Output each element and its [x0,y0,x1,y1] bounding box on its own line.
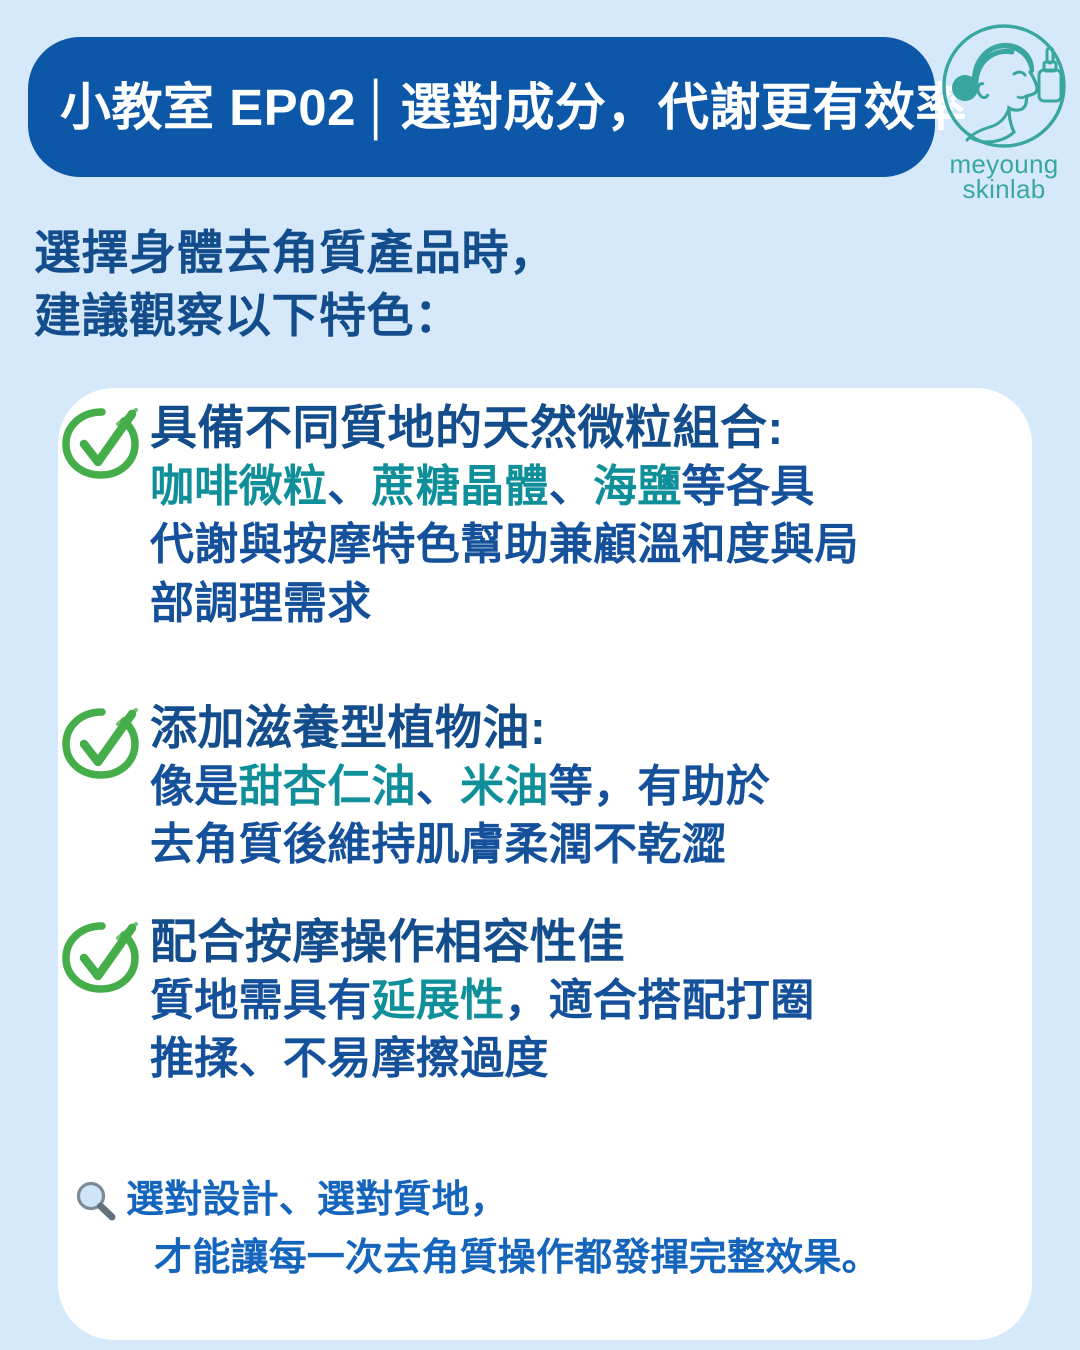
plain-text: 等，有助於 [549,762,771,811]
lead-line-2: 建議觀察以下特色： [34,285,794,348]
feature-heading: 配合按摩操作相容性佳 [150,916,1020,968]
footer-note-text: 選對設計、選對質地， 才能讓每一次去角質操作都發揮完整效果。 [126,1172,880,1288]
green-check-circle-icon [56,404,148,482]
title-suffix: 選對成分，代謝更有效率 [400,79,967,136]
feature-body: 具備不同質地的天然微粒組合: 咖啡微粒、蔗糖晶體、海鹽等各具代謝與按摩特色幫助兼… [150,402,1032,633]
magnifier-icon [72,1178,120,1226]
highlighted-term: 甜杏仁油 [239,762,416,811]
plain-text: 像是 [150,762,239,811]
footer-line-2: 才能讓每一次去角質操作都發揮完整效果。 [126,1230,880,1288]
feature-heading: 具備不同質地的天然微粒組合: [150,402,1020,454]
feature-detail: 咖啡微粒、蔗糖晶體、海鹽等各具代謝與按摩特色幫助兼顧溫和度與局部調理需求 [150,458,1020,634]
title-banner: 小教室 EP02│選對成分，代謝更有效率 [28,37,935,177]
feature-detail-line: 代謝與按摩特色幫助兼顧溫和度與局 [150,516,1020,575]
plain-text: 部調理需求 [150,579,372,628]
plain-text: 代謝與按摩特色幫助兼顧溫和度與局 [150,520,859,569]
highlighted-term: 海鹽 [593,462,682,511]
feature-item: 添加滋養型植物油: 像是甜杏仁油、米油等，有助於去角質後維持肌膚柔潤不乾澀 [58,702,1032,875]
lead-line-1: 選擇身體去角質產品時， [34,222,794,285]
plain-text: 、 [327,462,371,511]
feature-detail-line: 咖啡微粒、蔗糖晶體、海鹽等各具 [150,458,1020,517]
plain-text: 等各具 [682,462,815,511]
feature-detail-line: 質地需具有延展性，適合搭配打圈 [150,972,1020,1031]
plain-text: 去角質後維持肌膚柔潤不乾澀 [150,820,726,869]
feature-detail: 像是甜杏仁油、米油等，有助於去角質後維持肌膚柔潤不乾澀 [150,758,1020,875]
highlighted-term: 蔗糖晶體 [372,462,549,511]
plain-text: 推揉、不易摩擦過度 [150,1034,549,1083]
feature-detail: 質地需具有延展性，適合搭配打圈推揉、不易摩擦過度 [150,972,1020,1089]
feature-heading: 添加滋養型植物油: [150,702,1020,754]
poster-canvas: 小教室 EP02│選對成分，代謝更有效率 [0,0,1080,1350]
feature-item: 配合按摩操作相容性佳 質地需具有延展性，適合搭配打圈推揉、不易摩擦過度 [58,916,1032,1089]
footer-note: 選對設計、選對質地， 才能讓每一次去角質操作都發揮完整效果。 [72,1172,1012,1288]
brand-wordmark: meyoung skinlab [949,152,1058,201]
wordmark-line-2: skinlab [949,177,1058,202]
plain-text: 質地需具有 [150,976,372,1025]
green-check-circle-icon [56,704,148,782]
title-prefix: 小教室 EP02 [60,79,356,136]
highlighted-term: 米油 [460,762,549,811]
feature-item: 具備不同質地的天然微粒組合: 咖啡微粒、蔗糖晶體、海鹽等各具代謝與按摩特色幫助兼… [58,402,1032,633]
feature-body: 配合按摩操作相容性佳 質地需具有延展性，適合搭配打圈推揉、不易摩擦過度 [150,916,1032,1089]
highlighted-term: 咖啡微粒 [150,462,327,511]
feature-detail-line: 像是甜杏仁油、米油等，有助於 [150,758,1020,817]
lead-paragraph: 選擇身體去角質產品時， 建議觀察以下特色： [34,222,794,347]
page-title: 小教室 EP02│選對成分，代謝更有效率 [60,82,967,133]
plain-text: 、 [549,462,593,511]
feature-detail-line: 部調理需求 [150,575,1020,634]
highlighted-term: 延展性 [372,976,505,1025]
plain-text: ，適合搭配打圈 [504,976,814,1025]
plain-text: 、 [416,762,460,811]
feature-detail-line: 推揉、不易摩擦過度 [150,1030,1020,1089]
feature-detail-line: 去角質後維持肌膚柔潤不乾澀 [150,816,1020,875]
title-separator: │ [356,79,400,136]
brand-logo: meyoung skinlab [932,22,1076,217]
footer-line-1: 選對設計、選對質地， [126,1172,880,1230]
green-check-circle-icon [56,918,148,996]
features-card: 具備不同質地的天然微粒組合: 咖啡微粒、蔗糖晶體、海鹽等各具代謝與按摩特色幫助兼… [58,388,1032,1340]
header: 小教室 EP02│選對成分，代謝更有效率 [0,0,1080,220]
feature-body: 添加滋養型植物油: 像是甜杏仁油、米油等，有助於去角質後維持肌膚柔潤不乾澀 [150,702,1032,875]
meyoung-skinlab-face-dropper-logo-icon [940,22,1068,150]
